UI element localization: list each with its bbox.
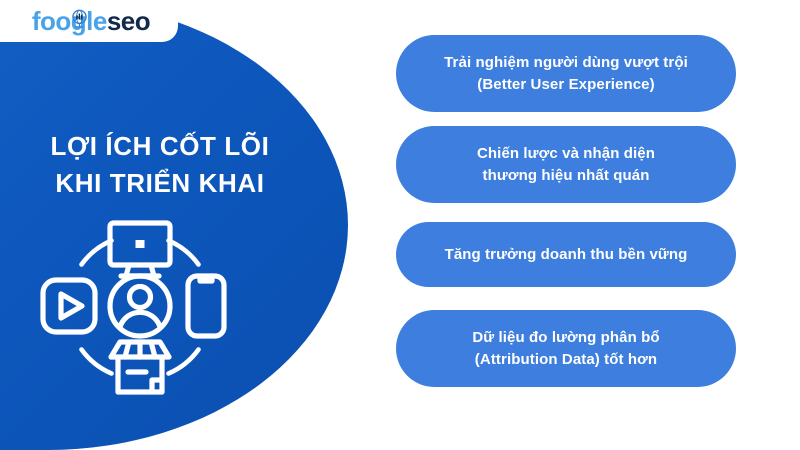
benefit-card-better-user-experience[interactable]: Trải nghiệm người dùng vượt trội (Better…: [396, 35, 736, 112]
globe-chart-icon: [69, 8, 90, 29]
benefits-list: Trải nghiệm người dùng vượt trội (Better…: [396, 0, 736, 450]
benefit-card-text: Tăng trưởng doanh thu bền vững: [445, 244, 688, 266]
benefit-card-line-2: thương hiệu nhất quán: [477, 165, 655, 187]
logo-text-secondary: seo: [107, 6, 150, 36]
benefit-card-line-2: (Better User Experience): [444, 74, 688, 96]
benefit-card-sustainable-revenue-growth[interactable]: Tăng trưởng doanh thu bền vững: [396, 222, 736, 287]
benefit-card-text: Chiến lược và nhận diện thương hiệu nhất…: [477, 143, 655, 187]
brand-logo: foogleseo: [0, 0, 178, 42]
desktop-monitor-icon: [110, 223, 170, 276]
infographic-canvas: foogleseo LỢI ÍCH CỐT LÕI KHI TRIỂN KHAI: [0, 0, 800, 450]
storefront-icon: [111, 342, 169, 392]
page-title-line-2: KHI TRIỂN KHAI: [0, 165, 320, 202]
page-title-line-1: LỢI ÍCH CỐT LÕI: [0, 128, 320, 165]
benefit-card-line-1: Dữ liệu đo lường phân bổ: [472, 327, 659, 349]
benefit-card-better-attribution-data[interactable]: Dữ liệu đo lường phân bổ (Attribution Da…: [396, 310, 736, 387]
logo-wrap: foogleseo: [28, 6, 150, 36]
page-title: LỢI ÍCH CỐT LÕI KHI TRIỂN KHAI: [0, 128, 320, 202]
logo-lockup: foogleseo: [32, 8, 150, 34]
benefit-card-line-1: Trải nghiệm người dùng vượt trội: [444, 52, 688, 74]
video-play-icon: [43, 280, 95, 332]
benefit-card-text: Trải nghiệm người dùng vượt trội (Better…: [444, 52, 688, 96]
benefit-card-line-1: Chiến lược và nhận diện: [477, 143, 655, 165]
omnichannel-diagram: [38, 214, 242, 400]
smartphone-icon: [188, 276, 224, 336]
benefit-card-consistent-brand-strategy[interactable]: Chiến lược và nhận diện thương hiệu nhất…: [396, 126, 736, 203]
user-avatar-icon: [110, 276, 170, 336]
benefit-card-text: Dữ liệu đo lường phân bổ (Attribution Da…: [472, 327, 659, 371]
benefit-card-line-1: Tăng trưởng doanh thu bền vững: [445, 244, 688, 266]
benefit-card-line-2: (Attribution Data) tốt hơn: [472, 349, 659, 371]
